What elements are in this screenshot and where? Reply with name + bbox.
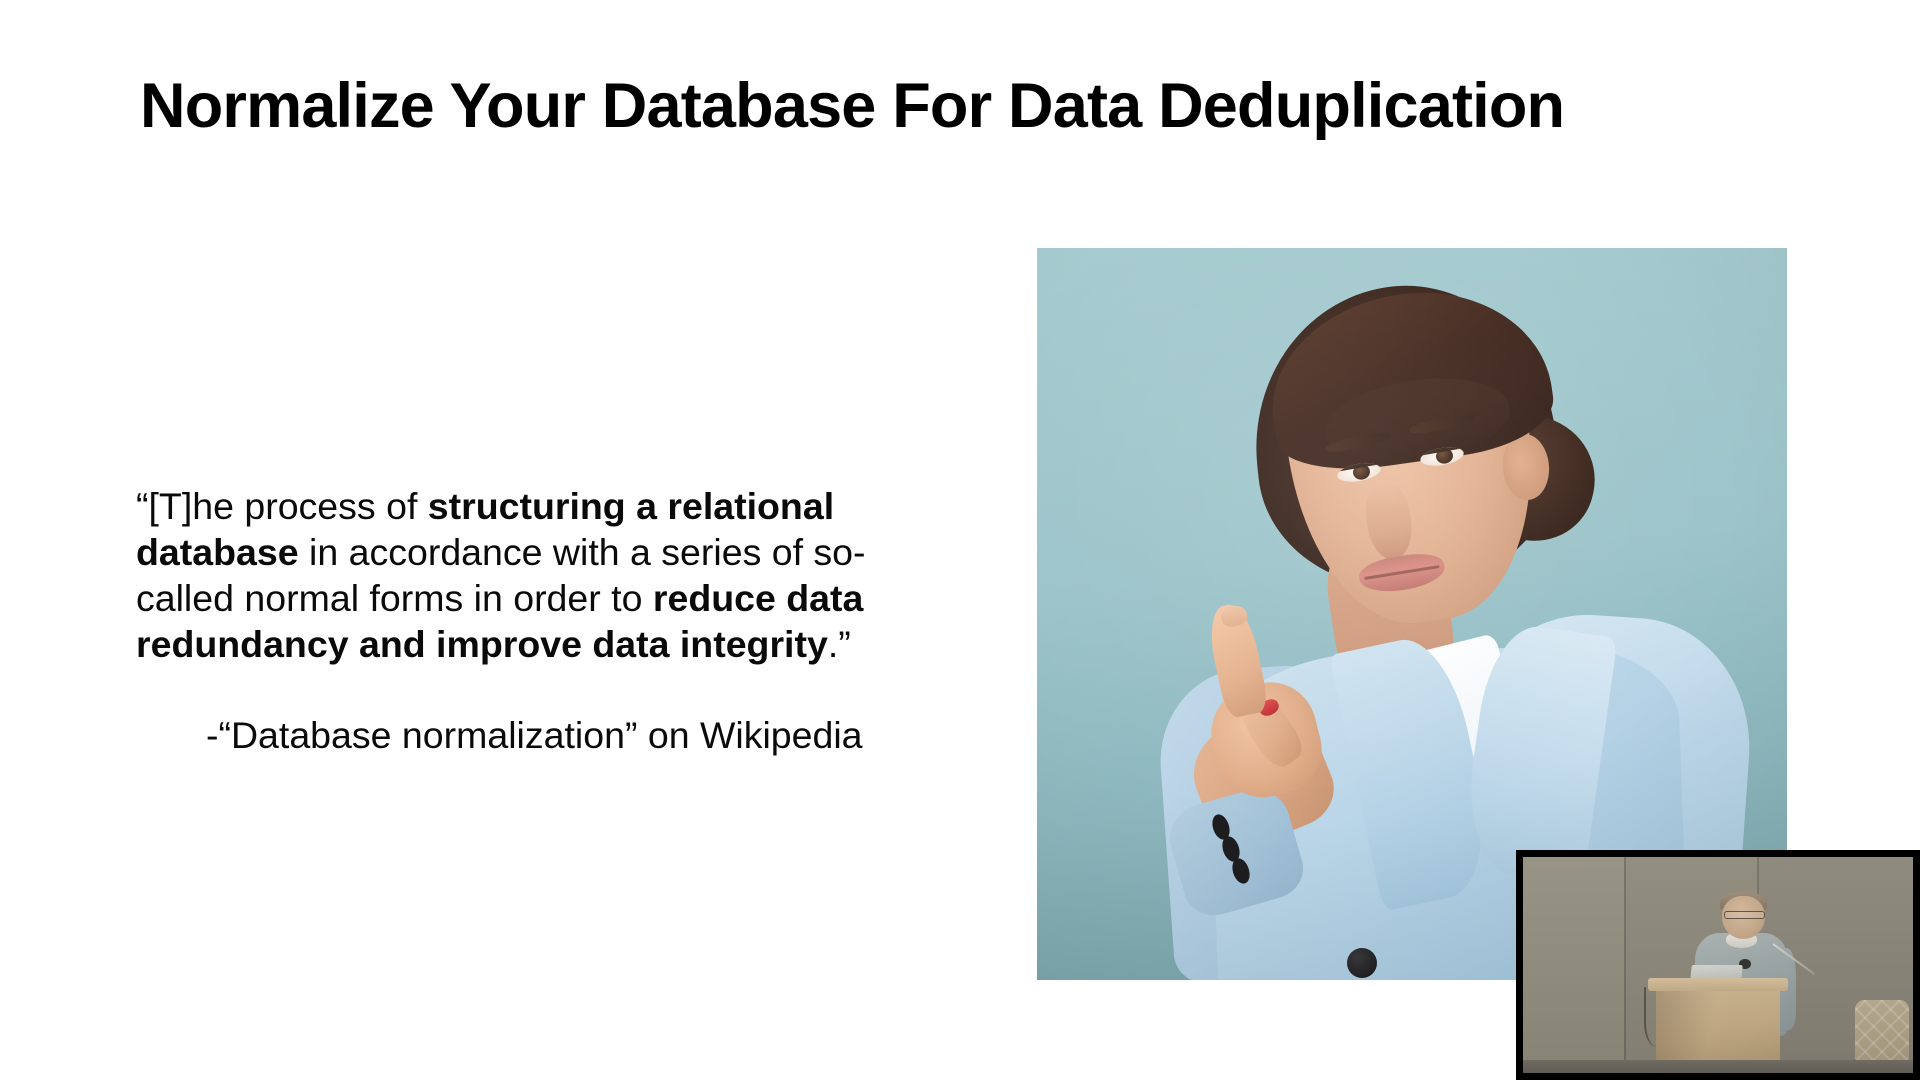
- speaker-video-feed: [1523, 857, 1913, 1073]
- video-podium-shadow: [1656, 991, 1781, 1060]
- video-wall-seam-1: [1624, 857, 1626, 1073]
- speaker-video-overlay[interactable]: [1516, 850, 1920, 1080]
- slide-canvas: Normalize Your Database For Data Dedupli…: [0, 0, 1920, 1080]
- video-cable: [1644, 987, 1666, 1047]
- video-chair-pattern: [1855, 1000, 1910, 1060]
- quote-segment-5: .”: [828, 623, 851, 665]
- quote-segment-1: “[T]he process of: [136, 485, 428, 527]
- page-title: Normalize Your Database For Data Dedupli…: [140, 72, 1800, 140]
- video-podium-top: [1648, 978, 1788, 991]
- quote-attribution: -“Database normalization” on Wikipedia: [206, 712, 863, 758]
- quote-text: “[T]he process of structuring a relation…: [136, 483, 916, 667]
- video-floor: [1523, 1060, 1913, 1073]
- video-wall-panel-left: [1523, 857, 1624, 1073]
- video-speaker-glasses: [1724, 911, 1765, 919]
